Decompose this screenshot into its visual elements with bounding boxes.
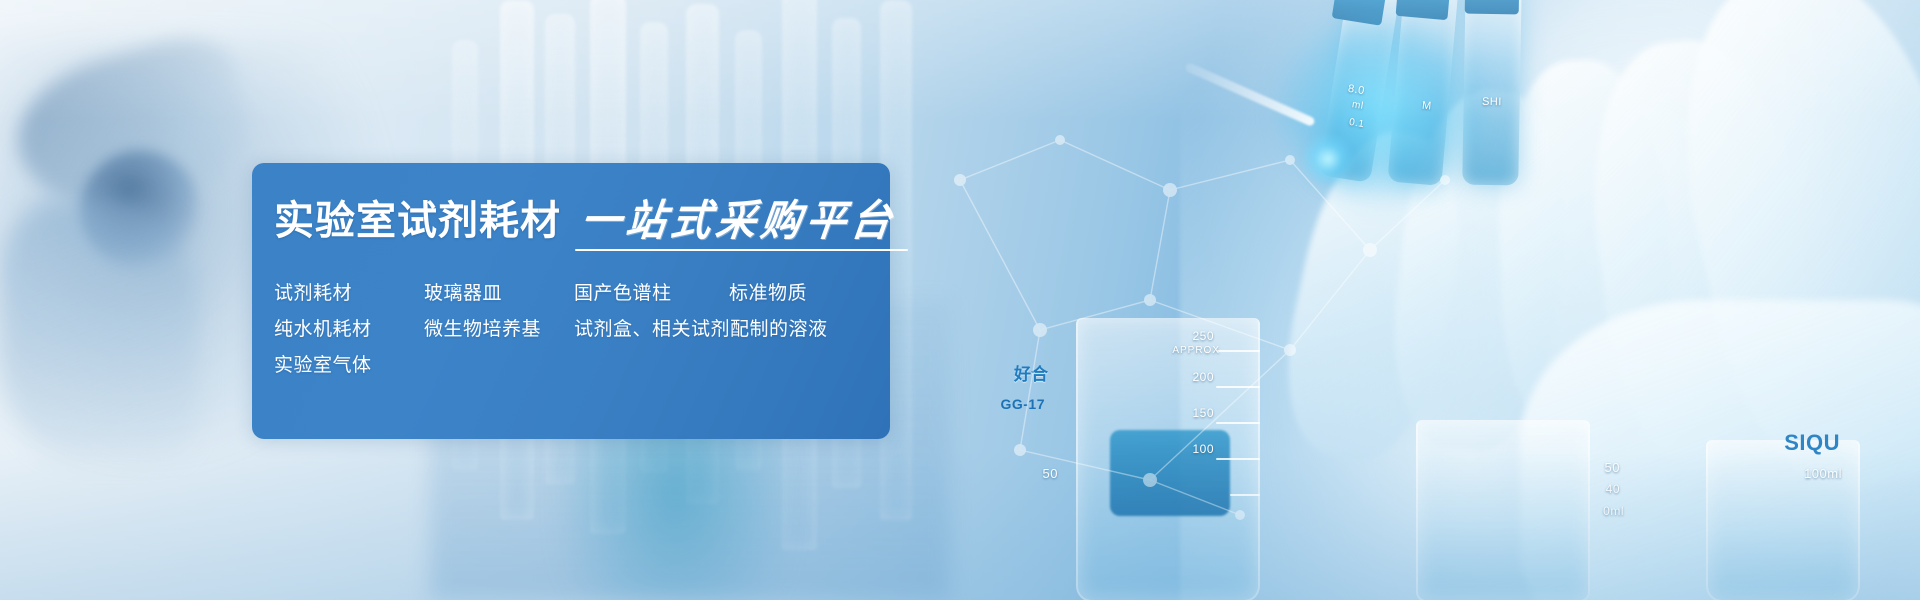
category-row: 纯水机耗材 微生物培养基 试剂盒、相关试剂配制的溶液: [274, 311, 890, 347]
top-vignette: [0, 0, 1920, 120]
category-item[interactable]: 试剂耗材: [274, 284, 424, 303]
microscope-body: [0, 200, 200, 460]
category-row: 实验室气体: [274, 347, 890, 383]
title-main-text: 实验室试剂耗材: [274, 201, 561, 241]
banner-title: 实验室试剂耗材 一站式采购平台: [252, 201, 890, 255]
title-underline: [575, 249, 908, 251]
category-item[interactable]: 纯水机耗材: [274, 320, 424, 339]
title-brush-wrapper: 一站式采购平台: [575, 201, 902, 251]
category-item[interactable]: 实验室气体: [274, 356, 424, 375]
category-row: 试剂耗材 玻璃器皿 国产色谱柱 标准物质: [274, 275, 890, 311]
category-item[interactable]: 试剂盒、相关试剂配制的溶液: [574, 320, 828, 339]
promo-banner: 8.0 ml 0.1 M SHI 250 APPROX 200 150 100 …: [0, 0, 1920, 600]
content-panel: 实验室试剂耗材 一站式采购平台 试剂耗材 玻璃器皿 国产色谱柱 标准物质 纯水机…: [252, 163, 890, 439]
category-item[interactable]: 微生物培养基: [424, 320, 574, 339]
bottom-vignette: [0, 450, 1920, 600]
title-brush-text: 一站式采购平台: [578, 200, 898, 242]
category-item[interactable]: 国产色谱柱: [574, 284, 729, 303]
category-item[interactable]: 玻璃器皿: [424, 284, 574, 303]
category-item[interactable]: 标准物质: [729, 284, 807, 303]
category-list: 试剂耗材 玻璃器皿 国产色谱柱 标准物质 纯水机耗材 微生物培养基 试剂盒、相关…: [252, 255, 890, 383]
